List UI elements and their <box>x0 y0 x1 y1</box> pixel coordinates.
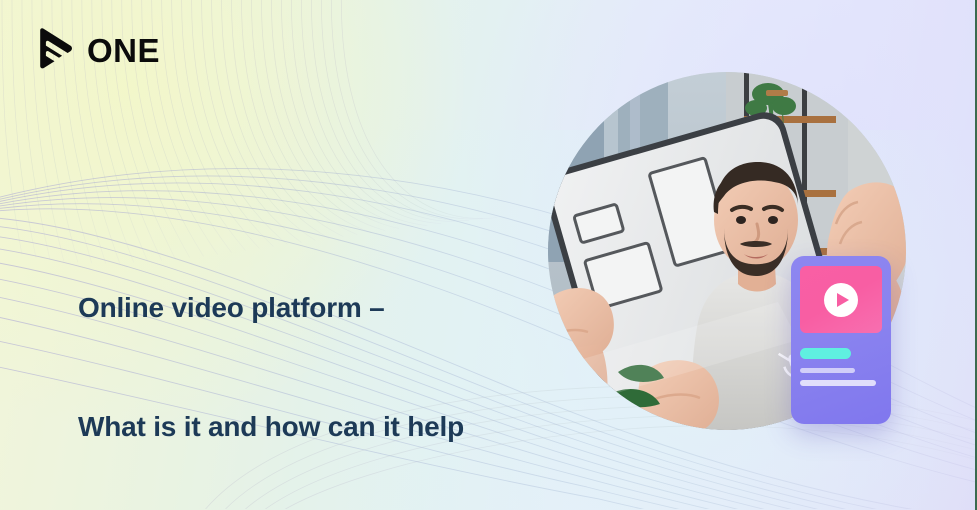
logo-wordmark: ONE <box>87 34 160 67</box>
hero-banner: ONE Online video platform – What is it a… <box>0 0 977 510</box>
brand-logo[interactable]: ONE <box>36 28 160 72</box>
video-thumbnail[interactable] <box>800 266 882 333</box>
headline-line-1: Online video platform – <box>78 288 477 328</box>
page-title: Online video platform – What is it and h… <box>78 208 477 510</box>
play-triangle-glyph <box>837 293 849 307</box>
card-text-line-2 <box>800 380 876 386</box>
video-player-card[interactable] <box>791 256 891 424</box>
play-icon[interactable] <box>824 283 858 317</box>
card-accent-pill <box>800 348 851 359</box>
card-text-line-1 <box>800 368 855 373</box>
headline-line-2: What is it and how can it help <box>78 407 477 447</box>
play-triangle-icon <box>36 28 74 72</box>
